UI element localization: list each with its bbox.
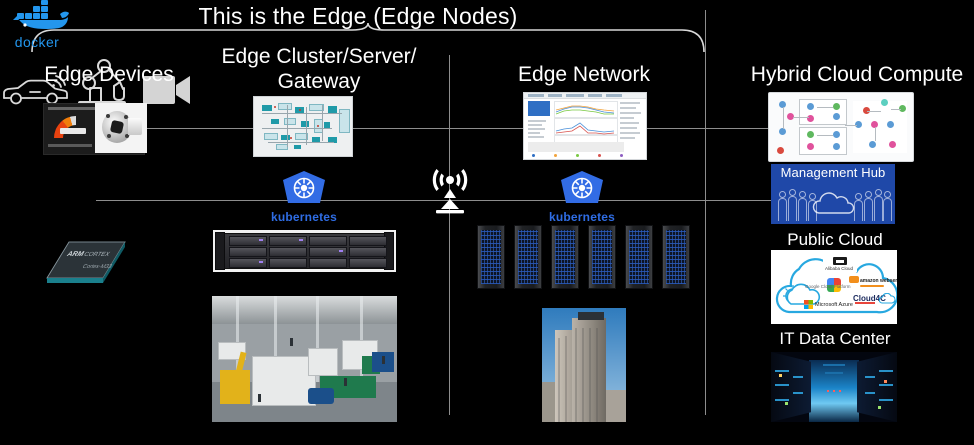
- network-dashboard-thumbnail: [523, 92, 647, 160]
- provider-label-azure: Microsoft Azure: [815, 302, 853, 308]
- provider-cloud4c: Cloud4C: [853, 294, 895, 308]
- provider-alibaba-cloud: Alibaba Cloud: [823, 256, 857, 272]
- server-cabinet: [477, 225, 505, 289]
- provider-google-cloud-platform: Google Cloud Platform: [805, 278, 849, 294]
- public-cloud-providers-panel: Alibaba Cloud amazon webservices Google …: [771, 250, 897, 324]
- public-cloud-label: Public Cloud: [755, 230, 915, 250]
- it-data-center-label: IT Data Center: [755, 329, 915, 349]
- factory-floor-photo: [212, 296, 397, 422]
- kubernetes-logo-cluster: kubernetes: [272, 170, 336, 226]
- machined-part-photo: [95, 103, 147, 153]
- slide-canvas: This is the Edge (Edge Nodes) Edge Devic…: [0, 0, 974, 445]
- management-hub-title: Management Hub: [771, 165, 895, 180]
- arm-cortex-chip-icon: ARM CORTEX Cortex-M33: [45, 240, 127, 286]
- kubernetes-label: kubernetes: [256, 210, 352, 224]
- server-cabinet: [514, 225, 542, 289]
- scada-diagram-thumbnail: [253, 96, 353, 157]
- provider-label-gcp: Google Cloud Platform: [805, 284, 851, 289]
- column-title-edge-network: Edge Network: [470, 62, 698, 87]
- kubernetes-helm-icon: [272, 170, 336, 208]
- divider-vertical-network: [449, 55, 450, 415]
- cell-tower-icon: [421, 166, 479, 224]
- column-title-edge-devices: Edge Devices: [10, 62, 208, 87]
- server-cabinet: [588, 225, 616, 289]
- svg-text:CORTEX: CORTEX: [82, 251, 111, 258]
- column-title-edge-cluster: Edge Cluster/Server/ Gateway: [205, 44, 433, 94]
- rackmount-server-photo: [213, 230, 396, 272]
- kubernetes-helm-icon: [550, 170, 614, 208]
- cloud-workflow-diagram-thumbnail: [768, 92, 914, 162]
- svg-text:Cortex-M33: Cortex-M33: [81, 264, 113, 270]
- it-data-center-photo: [771, 352, 897, 422]
- provider-label-alibaba: Alibaba Cloud: [825, 266, 853, 271]
- server-cabinet: [551, 225, 579, 289]
- kubernetes-label: kubernetes: [534, 210, 630, 224]
- provider-microsoft-azure: Microsoft Azure: [804, 299, 854, 311]
- provider-amazon-web-services: amazon webservices: [849, 276, 891, 291]
- divider-vertical-cloud: [705, 10, 706, 415]
- cloud4c-cloud-icon: [879, 293, 895, 304]
- server-cabinet: [662, 225, 690, 289]
- kubernetes-logo-network: kubernetes: [550, 170, 614, 226]
- provider-label-aws: amazon webservices: [860, 278, 897, 284]
- server-cabinet: [625, 225, 653, 289]
- cloud-outline-icon: [811, 192, 857, 216]
- connector-line-mid-right: [449, 200, 779, 201]
- telecom-building-photo: [542, 308, 626, 422]
- docker-label: docker: [0, 34, 74, 50]
- column-title-hybrid-cloud: Hybrid Cloud Compute: [740, 62, 974, 87]
- management-hub-panel: Management Hub: [771, 164, 895, 224]
